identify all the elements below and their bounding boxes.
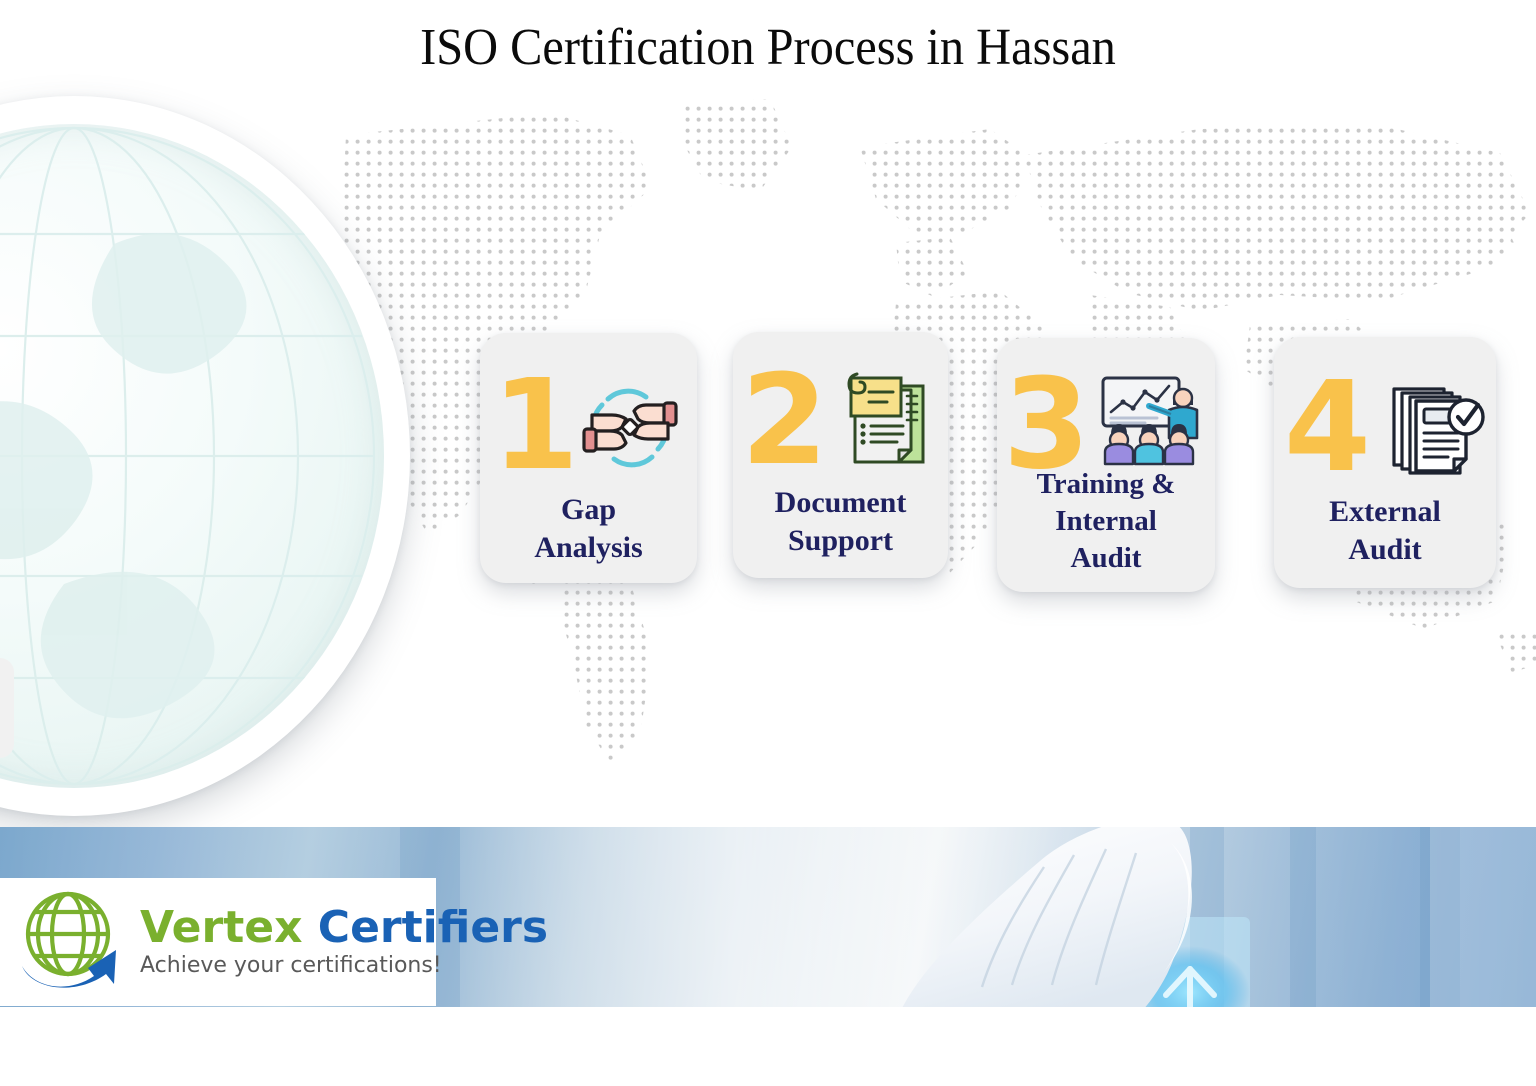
- step-card-4[interactable]: 4 Exter: [1274, 337, 1496, 588]
- step-caption-1: Gap Analysis: [480, 491, 697, 568]
- step-2-line1: Document: [733, 484, 948, 522]
- logo-tagline: Achieve your certifications!: [140, 953, 548, 978]
- handshake-icon: [576, 377, 684, 477]
- company-logo[interactable]: Vertex Certifiers Achieve your certifica…: [0, 878, 436, 1006]
- step-number-4: 4: [1284, 365, 1371, 490]
- step-number-1: 1: [492, 363, 579, 488]
- step-1-line2: Analysis: [480, 529, 697, 567]
- step-2-line2: Support: [733, 522, 948, 560]
- step-1-line1: Gap: [480, 491, 697, 529]
- step-3-line3: Audit: [997, 540, 1215, 577]
- document-support-icon: [837, 370, 933, 470]
- step-card-2[interactable]: 2: [733, 332, 948, 578]
- step-caption-4: External Audit: [1274, 493, 1496, 570]
- certificate-icon: [0, 292, 4, 542]
- step-caption-2: Document Support: [733, 484, 948, 561]
- step-3-line1: Training &: [997, 466, 1215, 503]
- iso-certification-badge: ISO Certification: [0, 658, 14, 758]
- logo-name-part1: Vertex: [140, 902, 302, 953]
- globe-icon: [0, 124, 384, 788]
- slide-canvas: ISO Certification Process in Hassan: [0, 0, 1536, 1086]
- globe-arrow-logo-icon: [16, 888, 132, 996]
- step-card-3[interactable]: 3: [997, 338, 1215, 592]
- step-3-line2: Internal: [997, 503, 1215, 540]
- step-4-line2: Audit: [1274, 531, 1496, 569]
- hero-globe-panel: ISO Certification: [0, 96, 410, 816]
- step-number-2: 2: [741, 358, 828, 483]
- logo-name-part2: Certifiers: [318, 902, 548, 953]
- logo-text-block: Vertex Certifiers Achieve your certifica…: [140, 906, 548, 979]
- page-title: ISO Certification Process in Hassan: [54, 18, 1482, 77]
- audit-documents-check-icon: [1386, 377, 1486, 477]
- logo-name: Vertex Certifiers: [140, 906, 548, 951]
- step-card-1[interactable]: 1: [480, 333, 697, 583]
- step-4-line1: External: [1274, 493, 1496, 531]
- step-caption-3: Training & Internal Audit: [997, 466, 1215, 577]
- training-presentation-icon: [1097, 372, 1205, 468]
